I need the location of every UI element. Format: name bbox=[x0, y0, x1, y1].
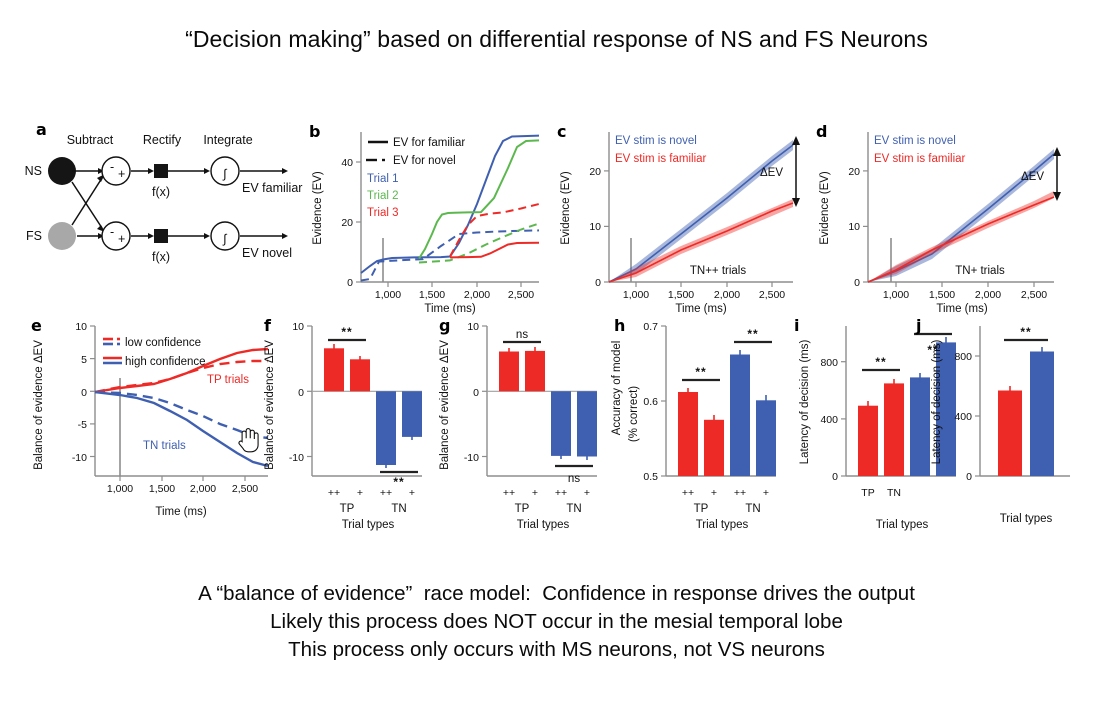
panel-h-chart: 0.7 0.6 0.5 Accuracy of model (% correct… bbox=[608, 310, 794, 532]
panel-e-letter: e bbox=[31, 316, 42, 335]
panel-c-chart: 0 10 20 1,000 1,500 2,000 2,500 Evidence… bbox=[553, 118, 813, 313]
summer1-plus: + bbox=[118, 167, 125, 181]
panel-d-xtick-2: 2,000 bbox=[975, 289, 1001, 301]
arrow-fs-cross bbox=[72, 178, 102, 225]
panel-c-ytick-2: 20 bbox=[589, 166, 601, 178]
panel-b-ytick-2: 40 bbox=[341, 157, 353, 169]
panel-b-ylabel: Evidence (EV) bbox=[312, 171, 324, 245]
rectify-block-novel bbox=[154, 229, 168, 243]
panel-g-sig-bottom: ns bbox=[568, 473, 580, 485]
panel-j-bar-tn bbox=[1030, 352, 1054, 477]
panel-d-ytick-2: 20 bbox=[848, 166, 860, 178]
panel-g-cat-1: + bbox=[532, 487, 538, 499]
panel-c-deltaev-label: ΔEV bbox=[760, 167, 783, 179]
panel-b: b 0 20 40 1,000 1,500 2,000 2 bbox=[305, 118, 555, 313]
panel-h-sig-right: ** bbox=[747, 327, 758, 341]
panel-e: e 10 5 0 -5 -10 1,000 bbox=[25, 310, 287, 532]
panel-c-xtick-3: 2,500 bbox=[759, 289, 785, 301]
panel-f-cat-2: ++ bbox=[380, 487, 392, 499]
panel-h-ylabel-2: (% correct) bbox=[628, 386, 640, 442]
panel-i-sig-left: ** bbox=[875, 355, 886, 369]
panel-g-xlabel: Trial types bbox=[517, 519, 570, 531]
panel-b-xtick-2: 2,000 bbox=[464, 289, 490, 301]
panel-f-cat-0: ++ bbox=[328, 487, 340, 499]
panel-h-bar-tn-pp bbox=[730, 355, 750, 477]
panel-h-sig-left: ** bbox=[695, 365, 706, 379]
panel-d-legend-familiar: EV stim is familiar bbox=[874, 153, 966, 165]
panel-f-group-tp: TP bbox=[340, 503, 355, 515]
slide-root: “Decision making” based on differential … bbox=[0, 0, 1113, 708]
panel-f-bar-tn-pp bbox=[376, 391, 396, 465]
panel-f: f 10 0 -10 Balance of evidence ΔEV bbox=[258, 310, 438, 532]
panel-h-letter: h bbox=[614, 316, 625, 335]
panel-h-cat-1: + bbox=[711, 487, 717, 499]
ns-node bbox=[48, 157, 76, 185]
panel-c-xtick-0: 1,000 bbox=[623, 289, 649, 301]
panel-b-letter: b bbox=[309, 122, 320, 141]
panel-e-xtick-3: 2,500 bbox=[232, 483, 258, 495]
panel-j-ylabel: Latency of decision (ms) bbox=[931, 340, 943, 465]
summer-novel bbox=[102, 222, 130, 250]
summer2-minus: - bbox=[110, 225, 114, 239]
caption-line-2: Likely this process does NOT occur in th… bbox=[0, 608, 1113, 636]
panel-h-bar-tp-p bbox=[704, 420, 724, 476]
panel-b-legend-novel: EV for novel bbox=[393, 155, 456, 167]
panel-j-letter: j bbox=[916, 316, 921, 335]
panel-e-tn-low bbox=[95, 392, 268, 438]
panel-f-ytick-10: 10 bbox=[292, 321, 304, 333]
panel-f-bar-tp-p bbox=[350, 359, 370, 391]
panel-d-condition: TN+ trials bbox=[955, 265, 1005, 277]
panel-c-xtick-1: 1,500 bbox=[668, 289, 694, 301]
panel-b-legend-trial3: Trial 3 bbox=[367, 207, 399, 219]
panel-i-ytick-0: 0 bbox=[832, 471, 838, 483]
panel-c-ytick-0: 0 bbox=[595, 277, 601, 289]
summer1-minus: - bbox=[110, 160, 114, 174]
panel-e-chart: 10 5 0 -5 -10 1,000 1,500 2,000 2,500 Ba… bbox=[25, 310, 287, 532]
panel-c-ytick-1: 10 bbox=[589, 221, 601, 233]
panel-g-chart: 10 0 -10 Balance of evidence ΔEV ns ns +… bbox=[433, 310, 613, 532]
arrow-ns-cross bbox=[72, 182, 102, 228]
panel-j-sig: ** bbox=[1020, 325, 1031, 339]
panel-b-xtick-0: 1,000 bbox=[375, 289, 401, 301]
panel-h-ylabel-1: Accuracy of model bbox=[611, 341, 623, 436]
panel-i-cat-1: TN bbox=[887, 487, 901, 499]
panel-d-xtick-0: 1,000 bbox=[883, 289, 909, 301]
panel-d-legend-novel: EV stim is novel bbox=[874, 135, 956, 147]
fs-label: FS bbox=[26, 229, 42, 243]
panel-g-bar-tp-p bbox=[525, 351, 545, 391]
panel-b-xtick-3: 2,500 bbox=[508, 289, 534, 301]
panel-f-chart: 10 0 -10 Balance of evidence ΔEV ** ** +… bbox=[258, 310, 438, 532]
panel-b-legend-familiar: EV for familiar bbox=[393, 137, 465, 149]
panel-h-ytick-05: 0.5 bbox=[643, 471, 658, 483]
panel-i-bar-tp-pp bbox=[858, 406, 878, 476]
panel-b-xtick-1: 1,500 bbox=[419, 289, 445, 301]
page-title: “Decision making” based on differential … bbox=[0, 26, 1113, 53]
panel-i-bar-tp-p bbox=[884, 383, 904, 476]
panel-e-xlabel: Time (ms) bbox=[155, 506, 206, 518]
panel-e-legend-high: high confidence bbox=[125, 356, 206, 368]
panel-g-ytick-m10: -10 bbox=[464, 452, 479, 464]
stage-label-rectify: Rectify bbox=[143, 133, 182, 147]
panel-g-bar-tn-p bbox=[577, 391, 597, 456]
panel-j-ytick-800: 800 bbox=[954, 351, 972, 363]
panel-b-chart: 0 20 40 1,000 1,500 2,000 2,500 Evidence… bbox=[305, 118, 555, 313]
panel-d-deltaev-label: ΔEV bbox=[1021, 171, 1044, 183]
panel-j-xlabel: Trial types bbox=[1000, 513, 1053, 525]
panel-i-ytick-800: 800 bbox=[820, 357, 838, 369]
panel-e-ytick-0: 0 bbox=[81, 387, 87, 399]
panel-e-tn-label: TN trials bbox=[143, 440, 186, 452]
panel-c-condition: TN++ trials bbox=[690, 265, 746, 277]
panel-d-xtick-1: 1,500 bbox=[929, 289, 955, 301]
panel-j-ytick-0: 0 bbox=[966, 471, 972, 483]
panel-h-xlabel: Trial types bbox=[696, 519, 749, 531]
panel-f-cat-3: + bbox=[409, 487, 415, 499]
panel-h-group-tn: TN bbox=[745, 503, 760, 515]
panel-e-legend-low: low confidence bbox=[125, 337, 201, 349]
panel-f-sig-top: ** bbox=[341, 325, 352, 339]
panel-e-ylabel: Balance of evidence ΔEV bbox=[33, 340, 45, 470]
panel-g-cat-2: ++ bbox=[555, 487, 567, 499]
panel-f-sig-bottom: ** bbox=[393, 475, 404, 489]
panel-h-cat-2: ++ bbox=[734, 487, 746, 499]
panel-e-ytick-10: 10 bbox=[75, 321, 87, 333]
panel-c-legend-novel: EV stim is novel bbox=[615, 135, 697, 147]
hand-cursor-icon bbox=[239, 429, 258, 452]
panel-h: h 0.7 0.6 0.5 Accuracy of model (% corre… bbox=[608, 310, 794, 532]
stage-label-subtract: Subtract bbox=[67, 133, 114, 147]
panel-i-cat-0: TP bbox=[861, 487, 874, 499]
panel-f-ytick-m10: -10 bbox=[289, 452, 304, 464]
panel-f-cat-1: + bbox=[357, 487, 363, 499]
panel-e-tp-label: TP trials bbox=[207, 374, 249, 386]
panel-f-bar-tn-p bbox=[402, 391, 422, 437]
panel-c-ylabel: Evidence (EV) bbox=[560, 171, 572, 245]
panel-b-ytick-0: 0 bbox=[347, 277, 353, 289]
ns-label: NS bbox=[25, 164, 42, 178]
summer-familiar bbox=[102, 157, 130, 185]
rectify-label-2: f(x) bbox=[152, 250, 170, 264]
panel-g-group-tn: TN bbox=[566, 503, 581, 515]
panel-f-letter: f bbox=[264, 316, 271, 335]
panel-h-ytick-06: 0.6 bbox=[643, 396, 658, 408]
panel-a-diagram: Subtract Rectify Integrate NS FS bbox=[28, 118, 308, 298]
panel-e-ytick-m5: -5 bbox=[78, 419, 87, 431]
panel-d-letter: d bbox=[816, 122, 827, 141]
caption-line-3: This process only occurs with MS neurons… bbox=[0, 636, 1113, 664]
rectify-label-1: f(x) bbox=[152, 185, 170, 199]
panel-b-ytick-1: 20 bbox=[341, 217, 353, 229]
panel-h-bar-tn-p bbox=[756, 400, 776, 476]
panel-i-ytick-400: 400 bbox=[820, 414, 838, 426]
panel-i-letter: i bbox=[794, 316, 799, 335]
panel-h-bar-tp-pp bbox=[678, 392, 698, 476]
panel-e-xtick-0: 1,000 bbox=[107, 483, 133, 495]
panel-e-xtick-1: 1,500 bbox=[149, 483, 175, 495]
panel-d: d 0 10 20 1,000 1,500 2,000 2,500 Eviden… bbox=[812, 118, 1077, 313]
panel-d-chart: 0 10 20 1,000 1,500 2,000 2,500 Evidence… bbox=[812, 118, 1077, 313]
rectify-block-familiar bbox=[154, 164, 168, 178]
panel-c-xtick-2: 2,000 bbox=[714, 289, 740, 301]
panel-b-legend-trial2: Trial 2 bbox=[367, 190, 399, 202]
integral-glyph-2: ∫ bbox=[222, 232, 227, 246]
panel-g-ylabel: Balance of evidence ΔEV bbox=[439, 340, 451, 470]
panel-g-cat-3: + bbox=[584, 487, 590, 499]
output-label-familiar: EV familiar bbox=[242, 181, 302, 195]
panel-c-legend-familiar: EV stim is familiar bbox=[615, 153, 707, 165]
figure-composite: a Subtract Rectify Integrate NS FS bbox=[0, 118, 1113, 538]
panel-g-bar-tn-pp bbox=[551, 391, 571, 456]
panel-g-ytick-10: 10 bbox=[467, 321, 479, 333]
panel-d-novel-band bbox=[868, 149, 1054, 282]
panel-a: a Subtract Rectify Integrate NS FS bbox=[28, 118, 308, 298]
panel-b-legend-trial1: Trial 1 bbox=[367, 173, 399, 185]
output-label-novel: EV novel bbox=[242, 246, 292, 260]
caption-line-1: A “balance of evidence” race model: Conf… bbox=[0, 580, 1113, 608]
panel-g-group-tp: TP bbox=[515, 503, 530, 515]
panel-c-letter: c bbox=[557, 122, 566, 141]
panel-e-xtick-2: 2,000 bbox=[190, 483, 216, 495]
panel-d-ylabel: Evidence (EV) bbox=[819, 171, 831, 245]
panel-h-cat-0: ++ bbox=[682, 487, 694, 499]
panel-g-bar-tp-pp bbox=[499, 352, 519, 392]
panel-g: g 10 0 -10 Balance of evidence ΔEV bbox=[433, 310, 613, 532]
panel-j: j 0 400 800 Latency of decision (ms) ** bbox=[910, 310, 1106, 532]
panel-f-xlabel: Trial types bbox=[342, 519, 395, 531]
panel-c: c 0 10 20 1,000 1,500 2,000 2,500 Eviden… bbox=[553, 118, 813, 313]
panel-h-cat-3: + bbox=[763, 487, 769, 499]
integral-glyph-1: ∫ bbox=[222, 167, 227, 181]
panel-j-chart: 0 400 800 Latency of decision (ms) ** Tr… bbox=[910, 310, 1106, 532]
panel-g-letter: g bbox=[439, 316, 450, 335]
fs-node bbox=[48, 222, 76, 250]
panel-e-tn-high bbox=[95, 392, 268, 466]
panel-a-letter: a bbox=[36, 120, 47, 139]
panel-d-ytick-1: 10 bbox=[848, 221, 860, 233]
panel-j-bar-tp bbox=[998, 391, 1022, 477]
panel-g-cat-0: ++ bbox=[503, 487, 515, 499]
panel-d-ytick-0: 0 bbox=[854, 277, 860, 289]
panel-g-sig-top: ns bbox=[516, 329, 528, 341]
panel-e-ytick-m10: -10 bbox=[72, 452, 87, 464]
panel-d-xtick-3: 2,500 bbox=[1021, 289, 1047, 301]
panel-e-ytick-5: 5 bbox=[81, 354, 87, 366]
panel-h-ytick-07: 0.7 bbox=[643, 321, 658, 333]
panel-j-ytick-400: 400 bbox=[954, 411, 972, 423]
panel-i-ylabel: Latency of decision (ms) bbox=[799, 340, 811, 465]
panel-f-group-tn: TN bbox=[391, 503, 406, 515]
panel-g-ytick-0: 0 bbox=[473, 387, 479, 399]
slide-caption: A “balance of evidence” race model: Conf… bbox=[0, 580, 1113, 664]
summer2-plus: + bbox=[118, 232, 125, 246]
panel-h-group-tp: TP bbox=[694, 503, 709, 515]
panel-f-ylabel: Balance of evidence ΔEV bbox=[264, 340, 276, 470]
panel-f-ytick-0: 0 bbox=[298, 387, 304, 399]
panel-f-bar-tp-pp bbox=[324, 348, 344, 391]
stage-label-integrate: Integrate bbox=[203, 133, 252, 147]
